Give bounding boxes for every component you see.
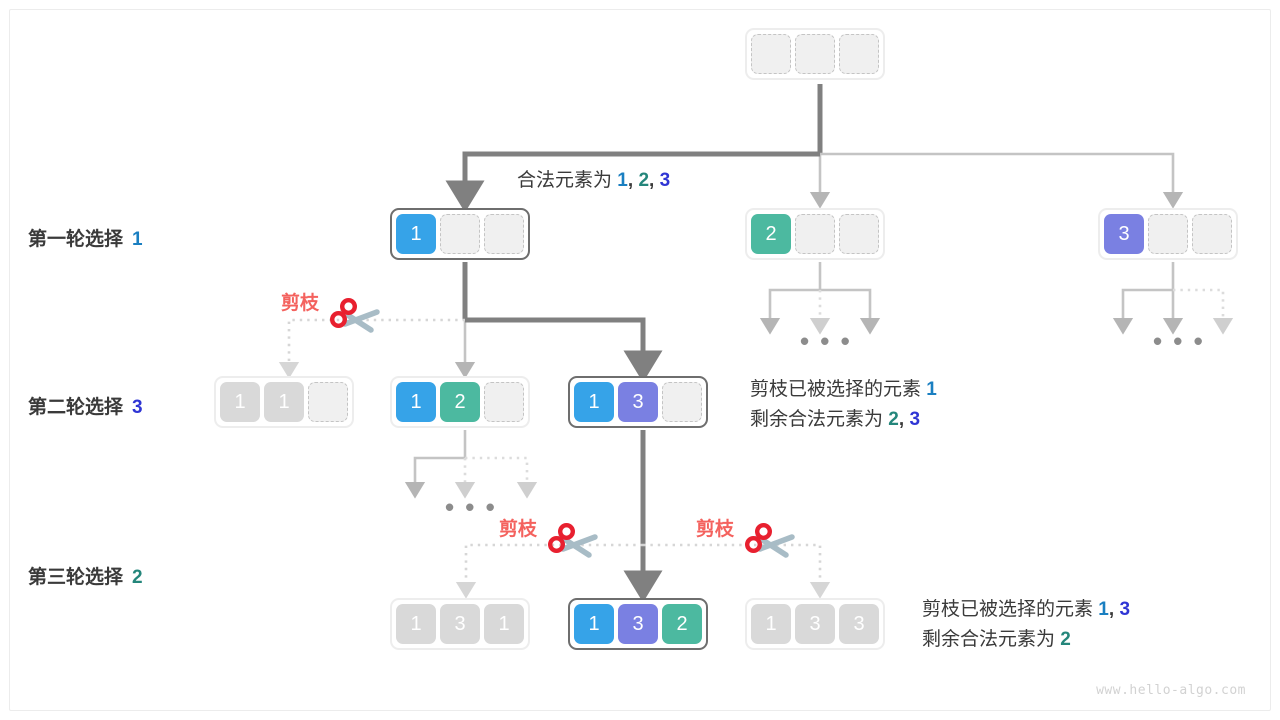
cell-n1-1 <box>440 214 480 254</box>
cell-n11-0: 1 <box>220 382 260 422</box>
cell-n12-0: 1 <box>396 382 436 422</box>
node-1-1[interactable]: 11 <box>214 376 354 428</box>
node-2[interactable]: 2 <box>745 208 885 260</box>
scissors-icon-prune-3 <box>740 521 802 561</box>
annotation-level3-line1-value-1: 1 <box>1098 599 1109 620</box>
cell-n1-2 <box>484 214 524 254</box>
scissors-icon-prune-1 <box>325 296 387 336</box>
cell-root-2 <box>839 34 879 74</box>
cell-n131-1: 3 <box>440 604 480 644</box>
round-label-3-text: 第三轮选择 <box>28 567 123 588</box>
prune-label-1: 剪枝 <box>281 288 319 315</box>
round-label-1-value: 1 <box>132 229 143 250</box>
cell-n2-0: 2 <box>751 214 791 254</box>
annotation-legal-elements-text: 合法元素为 <box>517 170 612 191</box>
ellipsis-n12-subtree: • • • <box>445 502 498 512</box>
cell-n13-2 <box>662 382 702 422</box>
annotation-level2-line2-value-2: 3 <box>909 409 920 430</box>
cell-n133-2: 3 <box>839 604 879 644</box>
cell-n3-1 <box>1148 214 1188 254</box>
cell-n132-0: 1 <box>574 604 614 644</box>
node-root[interactable] <box>745 28 885 80</box>
cell-n131-0: 1 <box>396 604 436 644</box>
annotation-legal-value-2: 2 <box>638 170 649 191</box>
ellipsis-n2-subtree: • • • <box>800 336 853 346</box>
round-label-2-value: 3 <box>132 397 143 418</box>
annotation-legal-value-3: 3 <box>660 170 671 191</box>
node-3[interactable]: 3 <box>1098 208 1238 260</box>
round-label-3: 第三轮选择2 <box>28 562 143 589</box>
node-1[interactable]: 1 <box>390 208 530 260</box>
round-label-3-value: 2 <box>132 567 143 588</box>
round-label-2-text: 第二轮选择 <box>28 397 123 418</box>
prune-label-3: 剪枝 <box>696 514 734 541</box>
node-1-3-2[interactable]: 132 <box>568 598 708 650</box>
cell-n1-0: 1 <box>396 214 436 254</box>
cell-n133-1: 3 <box>795 604 835 644</box>
cell-n132-1: 3 <box>618 604 658 644</box>
annotation-level2-line2: 剩余合法元素为 2, 3 <box>750 405 937 435</box>
cell-n11-1: 1 <box>264 382 304 422</box>
annotation-level3-line2-value-1: 2 <box>1060 629 1071 650</box>
cell-root-1 <box>795 34 835 74</box>
annotation-level3-line1: 剪枝已被选择的元素 1, 3 <box>922 595 1130 625</box>
cell-n2-1 <box>795 214 835 254</box>
cell-n12-2 <box>484 382 524 422</box>
annotation-legal-elements: 合法元素为 1, 2, 3 <box>517 166 670 196</box>
diagram-canvas: 剪枝 剪枝 剪枝 第一轮选择1 第二轮选择3 第三轮选择2 合法元素为 1, 2… <box>0 0 1280 720</box>
annotation-level2-line2-text: 剩余合法元素为 <box>750 409 883 430</box>
cell-n12-1: 2 <box>440 382 480 422</box>
annotation-level3-line2-text: 剩余合法元素为 <box>922 629 1055 650</box>
scissors-icon-prune-2 <box>543 521 605 561</box>
cell-n131-2: 1 <box>484 604 524 644</box>
cell-n13-1: 3 <box>618 382 658 422</box>
cell-n3-2 <box>1192 214 1232 254</box>
round-label-2: 第二轮选择3 <box>28 392 143 419</box>
node-1-3[interactable]: 13 <box>568 376 708 428</box>
cell-n3-0: 3 <box>1104 214 1144 254</box>
annotation-level3-line1-text: 剪枝已被选择的元素 <box>922 599 1093 620</box>
cell-n133-0: 1 <box>751 604 791 644</box>
annotation-level2: 剪枝已被选择的元素 1 剩余合法元素为 2, 3 <box>750 375 937 435</box>
round-label-1-text: 第一轮选择 <box>28 229 123 250</box>
annotation-level3: 剪枝已被选择的元素 1, 3 剩余合法元素为 2 <box>922 595 1130 655</box>
annotation-level2-line1: 剪枝已被选择的元素 1 <box>750 375 937 405</box>
annotation-legal-value-1: 1 <box>617 170 628 191</box>
cell-root-0 <box>751 34 791 74</box>
annotation-level3-line1-value-2: 3 <box>1119 599 1130 620</box>
annotation-level3-line2: 剩余合法元素为 2 <box>922 625 1130 655</box>
annotation-level2-line1-value-1: 1 <box>926 379 937 400</box>
cell-n13-0: 1 <box>574 382 614 422</box>
round-label-1: 第一轮选择1 <box>28 224 143 251</box>
node-1-3-1[interactable]: 131 <box>390 598 530 650</box>
node-1-3-3[interactable]: 133 <box>745 598 885 650</box>
cell-n132-2: 2 <box>662 604 702 644</box>
ellipsis-n3-subtree: • • • <box>1153 336 1206 346</box>
cell-n11-2 <box>308 382 348 422</box>
watermark: www.hello-algo.com <box>1096 683 1246 698</box>
cell-n2-2 <box>839 214 879 254</box>
prune-label-2: 剪枝 <box>499 514 537 541</box>
annotation-level2-line1-text: 剪枝已被选择的元素 <box>750 379 921 400</box>
node-1-2[interactable]: 12 <box>390 376 530 428</box>
annotation-level2-line2-value-1: 2 <box>888 409 899 430</box>
